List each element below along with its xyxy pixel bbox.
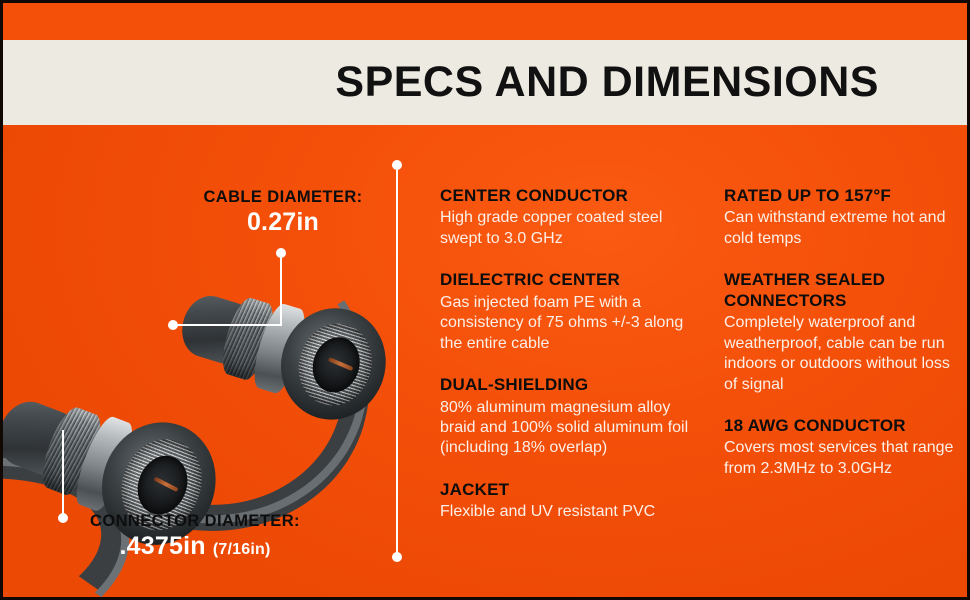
spec-body: High grade copper coated steel swept to … [440, 208, 695, 249]
page-title: SPECS AND DIMENSIONS [335, 61, 967, 104]
column-divider-bottom-dot [392, 552, 402, 562]
cable-diameter-leader-dot [276, 248, 286, 258]
connector-diameter-leader-line [62, 430, 64, 518]
cable-diameter-title: CABLE DIAMETER: [168, 188, 398, 207]
spec-column-one: CENTER CONDUCTOR High grade copper coate… [440, 186, 695, 523]
spec-item-weather-sealed-connectors: WEATHER SEALED CONNECTORS Completely wat… [724, 270, 956, 395]
cable-diameter-callout: CABLE DIAMETER: 0.27in [168, 188, 398, 238]
title-band: SPECS AND DIMENSIONS [3, 40, 967, 125]
spec-heading: RATED UP TO 157°F [724, 186, 956, 206]
cable-diameter-measure-dot [168, 320, 178, 330]
cable-diameter-measure-bar [172, 324, 282, 326]
column-divider-top-dot [392, 160, 402, 170]
cable-diameter-value: 0.27in [168, 207, 398, 238]
spec-item-center-conductor: CENTER CONDUCTOR High grade copper coate… [440, 186, 695, 249]
spec-heading: DIELECTRIC CENTER [440, 270, 695, 290]
spec-heading: WEATHER SEALED CONNECTORS [724, 270, 956, 311]
spec-body: Completely waterproof and weatherproof, … [724, 313, 956, 395]
spec-heading: 18 AWG CONDUCTOR [724, 416, 956, 436]
connector-diameter-value: .4375in (7/16in) [30, 531, 360, 562]
spec-body: 80% aluminum magnesium alloy braid and 1… [440, 398, 695, 459]
spec-heading: DUAL-SHIELDING [440, 375, 695, 395]
spec-column-two: RATED UP TO 157°F Can withstand extreme … [724, 186, 956, 479]
connector-diameter-value-main: .4375in [120, 532, 206, 560]
connector-diameter-callout: CONNECTOR DIAMETER: .4375in (7/16in) [30, 512, 360, 562]
spec-item-dielectric-center: DIELECTRIC CENTER Gas injected foam PE w… [440, 270, 695, 354]
spec-heading: JACKET [440, 480, 695, 500]
spec-item-temperature-rating: RATED UP TO 157°F Can withstand extreme … [724, 186, 956, 249]
spec-item-dual-shielding: DUAL-SHIELDING 80% aluminum magnesium al… [440, 375, 695, 459]
spec-body: Covers most services that range from 2.3… [724, 438, 956, 479]
top-accent-band [0, 0, 970, 40]
connector-diameter-value-sub: (7/16in) [213, 541, 271, 558]
spec-body: Flexible and UV resistant PVC [440, 502, 695, 522]
spec-item-jacket: JACKET Flexible and UV resistant PVC [440, 480, 695, 523]
connector-diameter-title: CONNECTOR DIAMETER: [30, 512, 360, 531]
specs-infographic: SPECS AND DIMENSIONS [0, 0, 970, 600]
spec-body: Gas injected foam PE with a consistency … [440, 293, 695, 354]
cable-diameter-leader-line [280, 253, 282, 325]
spec-item-18-awg-conductor: 18 AWG CONDUCTOR Covers most services th… [724, 416, 956, 479]
spec-body: Can withstand extreme hot and cold temps [724, 208, 956, 249]
spec-heading: CENTER CONDUCTOR [440, 186, 695, 206]
